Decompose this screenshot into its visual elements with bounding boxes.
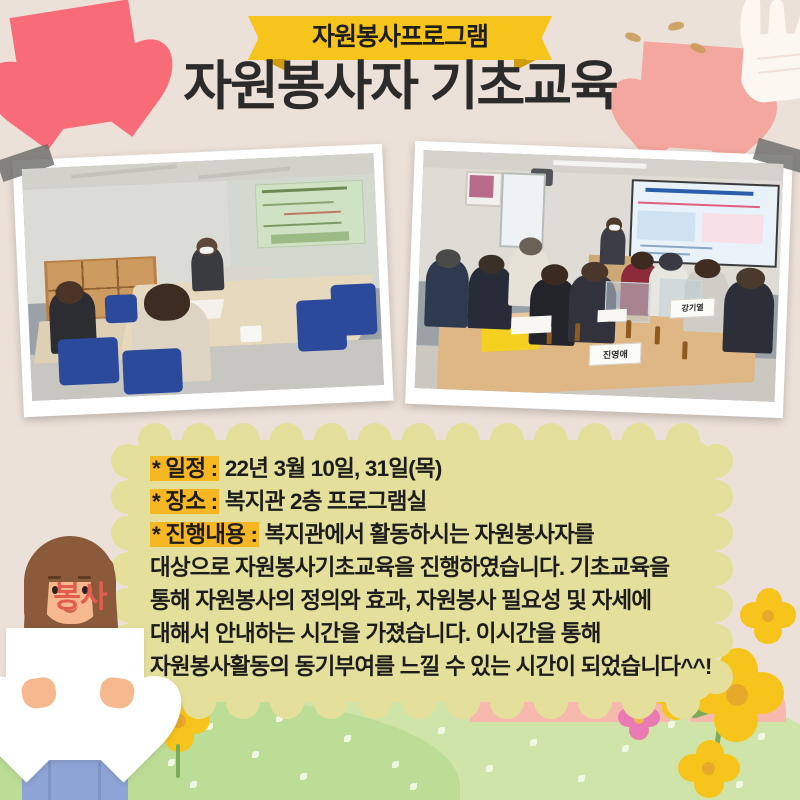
body-line-4: 자원봉사활동의 동기부여를 느낄 수 있는 시간이 되었습니다^^!	[150, 650, 702, 683]
info-label-location: 장소 :	[165, 489, 217, 514]
girl-jeans-seam-left	[48, 762, 51, 800]
ribbon-banner: 자원봉사프로그램	[0, 16, 800, 60]
body-line-2: 통해 자원봉사의 정의와 효과, 자원봉사 필요성 및 자세에	[150, 584, 702, 617]
page-title: 자원봉사자 기초교육	[0, 56, 800, 118]
info-line-schedule: * 일정 : 22년 3월 10일, 31일(목)	[150, 452, 702, 485]
info-label-schedule: 일정 :	[165, 456, 217, 481]
info-value-location: 복지관 2층 프로그램실	[225, 489, 427, 514]
info-value-content: 복지관에서 활동하시는 자원봉사자를	[265, 522, 594, 547]
flower-yellow-small-top	[740, 588, 796, 644]
flower-stem-left	[176, 744, 180, 778]
info-line-location: * 장소 : 복지관 2층 프로그램실	[150, 485, 702, 518]
info-label-content-highlight: * 진행내용 :	[150, 522, 259, 547]
ribbon-label: 자원봉사프로그램	[312, 23, 488, 51]
ribbon-body: 자원봉사프로그램	[270, 16, 530, 60]
body-line-1: 대상으로 자원봉사기초교육을 진행하였습니다. 기초교육을	[150, 551, 702, 584]
info-label-content: 진행내용 :	[165, 522, 257, 547]
photo-image-meeting-room	[22, 153, 384, 401]
flower-yellow-bottom	[678, 740, 740, 798]
info-label-schedule-highlight: * 일정 :	[150, 456, 219, 481]
info-marker-location: *	[152, 489, 160, 514]
photo-image-lecture-room: 진영애 강기열	[415, 150, 784, 402]
body-line-3: 대해서 안내하는 시간을 가졌습니다. 이시간을 통해	[150, 617, 702, 650]
info-panel: * 일정 : 22년 3월 10일, 31일(목) * 장소 : 복지관 2층 …	[128, 440, 716, 702]
photo-card-lecture-room[interactable]: 진영애 강기열	[405, 141, 793, 418]
volunteer-girl-illustration: 봉사	[0, 528, 160, 800]
info-label-location-highlight: * 장소 :	[150, 489, 219, 514]
girl-heart-label: 봉사	[0, 572, 160, 616]
poster-canvas: 자원봉사프로그램 자원봉사자 기초교육	[0, 0, 800, 800]
name-card-1: 진영애	[588, 342, 641, 366]
girl-jeans-seam-right	[98, 762, 101, 800]
info-marker-schedule: *	[152, 456, 160, 481]
photo-card-meeting-room[interactable]	[12, 144, 393, 418]
info-value-schedule: 22년 3월 10일, 31일(목)	[225, 456, 442, 481]
info-panel-content: * 일정 : 22년 3월 10일, 31일(목) * 장소 : 복지관 2층 …	[150, 452, 702, 683]
name-card-2: 강기열	[670, 298, 716, 319]
info-line-content: * 진행내용 : 복지관에서 활동하시는 자원봉사자를	[150, 518, 702, 551]
